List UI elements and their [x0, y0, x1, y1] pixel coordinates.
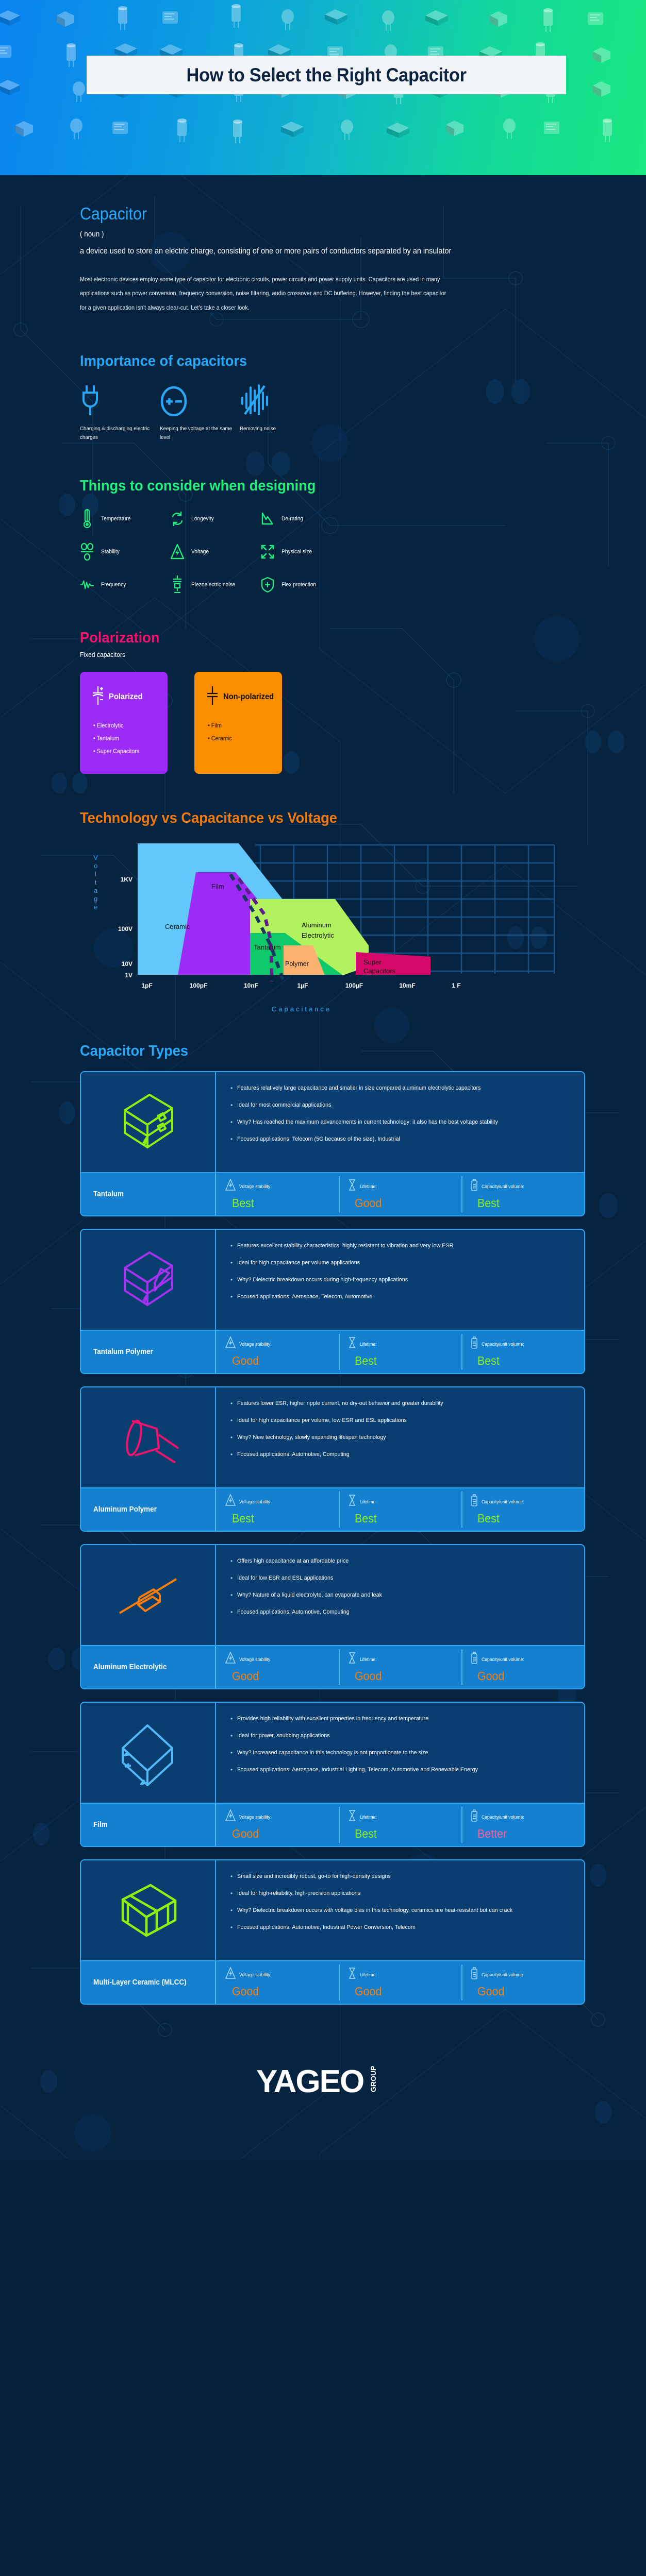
bullet-text: Why? Dielectric breakdown occurs with vo…	[237, 1906, 512, 1916]
lifetime-icon	[348, 1967, 356, 1982]
consideration-label: Physical size	[281, 548, 312, 556]
card-metric: Capacity/unit volume: Best	[461, 1173, 584, 1215]
definition-meaning: a device used to store an electric charg…	[80, 244, 454, 259]
considerations-section: Things to consider when designing Temper…	[0, 442, 646, 596]
bullet-dot: •	[230, 1556, 233, 1567]
bullet-dot: •	[230, 1450, 233, 1460]
definition-section: Capacitor ( noun ) a device used to stor…	[0, 175, 646, 315]
chart-ytick: 1KV	[121, 876, 132, 883]
chart-label-super-capacitors-2: Capacitors	[363, 967, 396, 975]
mlcc-capacitor-icon	[81, 1860, 216, 1960]
yageo-logo-subtext: GROUP	[369, 2066, 377, 2092]
shield-plus-icon	[260, 574, 275, 596]
card-bullet: • Features lower ESR, higher ripple curr…	[230, 1399, 569, 1409]
consideration-stability: Stability	[80, 541, 170, 563]
bullet-text: Small size and incredibly robust, go-to …	[237, 1872, 391, 1882]
card-bottom: Multi-Layer Ceramic (MLCC) Voltage stabi…	[81, 1960, 584, 2004]
metric-value: Good	[348, 1669, 454, 1683]
bullet-text: Ideal for high capacitance per volume, l…	[237, 1416, 407, 1426]
metric-label: Lifetime:	[360, 1184, 377, 1189]
metric-label: Capacity/unit volume:	[482, 1342, 524, 1347]
card-metric: Capacity/unit volume: Good	[461, 1961, 584, 2004]
chart-ytick: 100V	[118, 925, 132, 933]
film-capacitor-icon	[81, 1703, 216, 1803]
card-bullet: • Focused applications: Automotive, Indu…	[230, 1923, 569, 1933]
consideration-label: De-rating	[281, 515, 303, 523]
lifetime-icon	[348, 1652, 356, 1667]
metric-value: Good	[225, 1985, 331, 1998]
card-metric: Voltage stability: Good	[216, 1804, 339, 1846]
technology-capacitance-voltage-chart: Voltage	[80, 842, 585, 997]
bullet-dot: •	[230, 1889, 233, 1899]
bullet-text: Focused applications: Automotive, Comput…	[237, 1607, 350, 1618]
chart-title: Technology vs Capacitance vs Voltage	[80, 810, 554, 827]
bullet-dot: •	[230, 1590, 233, 1601]
consideration-temperature: Temperature	[80, 508, 170, 530]
card-metric: Lifetime: Best	[339, 1804, 461, 1846]
bullet-dot: •	[230, 1923, 233, 1933]
bullet-text: Features relatively large capacitance an…	[237, 1083, 481, 1094]
card-bullet: • Ideal for high-reliability, high-preci…	[230, 1889, 569, 1899]
bullet-dot: •	[230, 1714, 233, 1724]
card-metric: Lifetime: Best	[339, 1488, 461, 1531]
bullet-text: Ideal for power, snubbing applications	[237, 1731, 330, 1741]
aluminum-electrolytic-capacitor-icon	[81, 1545, 216, 1645]
yageo-logo-text: YAGEO	[256, 2064, 363, 2099]
consideration-label: Piezoelectric noise	[191, 581, 235, 589]
card-metric: Lifetime: Good	[339, 1961, 461, 2004]
card-bullet: • Ideal for most commercial applications	[230, 1100, 569, 1111]
polarization-card-name: Polarized	[109, 692, 142, 702]
card-metric: Lifetime: Best	[339, 1331, 461, 1373]
bullet-text: Focused applications: Aerospace, Industr…	[237, 1765, 478, 1775]
piezo-icon	[170, 574, 185, 596]
chart-plot: Ceramic Film Aluminum Electrolytic Tanta…	[101, 842, 565, 992]
metric-value: Best	[348, 1354, 454, 1368]
card-metric: Capacity/unit volume: Best	[461, 1331, 584, 1373]
metric-value: Good	[225, 1354, 331, 1368]
card-metric: Capacity/unit volume: Better	[461, 1804, 584, 1846]
bullet-text: Why? Dielectric breakdown occurs during …	[237, 1275, 408, 1285]
stability-icon	[225, 1809, 236, 1824]
lifetime-icon	[348, 1809, 356, 1824]
metric-value: Good	[348, 1196, 454, 1210]
chart-label-film: Film	[211, 883, 224, 890]
consideration-piezo-noise: Piezoelectric noise	[170, 574, 260, 596]
metric-value: Best	[348, 1827, 454, 1841]
bullet-text: Why? Increased capacitance in this techn…	[237, 1748, 428, 1758]
card-bullet: • Provides high reliability with excelle…	[230, 1714, 569, 1724]
card-bullet: • Features relatively large capacitance …	[230, 1083, 569, 1094]
lifetime-icon	[348, 1494, 356, 1509]
capacitor-type-cards: • Features relatively large capacitance …	[80, 1071, 584, 2005]
card-metrics: Voltage stability: Good Lifetime: Good C…	[216, 1646, 584, 1688]
consideration-label: Temperature	[101, 515, 130, 523]
card-name: Aluminum Polymer	[93, 1504, 157, 1515]
bullet-dot: •	[230, 1292, 233, 1302]
card-bullet: • Why? New technology, slowly expanding …	[230, 1433, 569, 1443]
definition-word: Capacitor	[80, 204, 544, 224]
bullet-dot: •	[230, 1607, 233, 1618]
card-name-cell: Tantalum Polymer	[81, 1331, 216, 1373]
metric-label: Capacity/unit volume:	[482, 1972, 524, 1977]
capacitor-type-card[interactable]: • Provides high reliability with excelle…	[80, 1702, 585, 1847]
polarization-list-item: • Super Capacitors	[93, 745, 162, 758]
card-bullet: • Focused applications: Aerospace, Telec…	[230, 1292, 569, 1302]
aluminum-polymer-capacitor-icon	[81, 1387, 216, 1487]
card-name-cell: Aluminum Polymer	[81, 1488, 216, 1531]
metric-value: Best	[225, 1512, 331, 1526]
card-metric: Voltage stability: Good	[216, 1646, 339, 1688]
refresh-cycle-icon	[170, 508, 185, 530]
card-name: Tantalum	[93, 1189, 124, 1200]
metric-value: Best	[348, 1512, 454, 1526]
bullet-dot: •	[230, 1906, 233, 1916]
card-bottom: Aluminum Polymer Voltage stability: Best…	[81, 1487, 584, 1531]
consideration-label: Frequency	[101, 581, 126, 589]
bullet-text: Provides high reliability with excellent…	[237, 1714, 428, 1724]
metric-label: Capacity/unit volume:	[482, 1499, 524, 1504]
chart-xtick: 100µF	[345, 982, 363, 989]
bullet-dot: •	[230, 1416, 233, 1426]
card-metrics: Voltage stability: Good Lifetime: Best C…	[216, 1804, 584, 1846]
consideration-frequency: Frequency	[80, 574, 170, 596]
lifetime-icon	[348, 1179, 356, 1194]
card-metric: Voltage stability: Best	[216, 1488, 339, 1531]
chart-label-ceramic: Ceramic	[165, 923, 190, 930]
chart-label-aluminum-electrolytic: Aluminum	[302, 921, 332, 929]
card-name: Film	[93, 1820, 108, 1831]
metric-value: Good	[225, 1827, 331, 1841]
stability-icon	[80, 541, 94, 563]
metric-label: Lifetime:	[360, 1499, 377, 1504]
card-top: • Offers high capacitance at an affordab…	[81, 1545, 584, 1645]
card-metrics: Voltage stability: Best Lifetime: Good C…	[216, 1173, 584, 1215]
importance-item-label: Charging & discharging electric charges	[80, 425, 154, 442]
consideration-derating: De-rating	[260, 508, 363, 530]
stability-icon	[225, 1179, 236, 1194]
metric-label: Voltage stability:	[239, 1815, 271, 1820]
polarization-cards: Polarized • Electrolytic • Tantalum • Su…	[80, 672, 584, 773]
capacitor-type-card[interactable]: • Offers high capacitance at an affordab…	[80, 1544, 585, 1689]
card-metric: Capacity/unit volume: Good	[461, 1646, 584, 1688]
metric-label: Lifetime:	[360, 1342, 377, 1347]
bullet-dot: •	[230, 1748, 233, 1758]
card-metrics: Voltage stability: Good Lifetime: Best C…	[216, 1331, 584, 1373]
importance-title: Importance of capacitors	[80, 353, 554, 370]
consideration-physical-size: Physical size	[260, 541, 363, 563]
card-metric: Voltage stability: Good	[216, 1331, 339, 1373]
bullet-text: Focused applications: Telecom (5G becaus…	[237, 1134, 400, 1145]
chart-label-aluminum-electrolytic-2: Electrolytic	[302, 931, 334, 939]
high-voltage-icon	[170, 541, 185, 563]
bullet-text: Ideal for most commercial applications	[237, 1100, 332, 1111]
bullet-text: Ideal for low ESR and ESL applications	[237, 1573, 333, 1584]
consideration-flex-protection: Flex protection	[260, 574, 363, 596]
card-name-cell: Tantalum	[81, 1173, 216, 1215]
consideration-label: Voltage	[191, 548, 209, 556]
chart-xtick: 10mF	[399, 982, 415, 989]
metric-label: Capacity/unit volume:	[482, 1815, 524, 1820]
metric-value: Good	[225, 1669, 331, 1683]
considerations-grid: Temperature Longevity	[80, 508, 584, 596]
bullet-text: Focused applications: Aerospace, Telecom…	[237, 1292, 372, 1302]
importance-item-noise: Removing noise	[240, 384, 320, 442]
metric-label: Capacity/unit volume:	[482, 1657, 524, 1662]
chart-xtick: 10nF	[244, 982, 258, 989]
consideration-label: Stability	[101, 548, 120, 556]
card-bullet: • Ideal for power, snubbing applications	[230, 1731, 569, 1741]
chart-section: Technology vs Capacitance vs Voltage Vol…	[0, 774, 646, 1013]
bullet-text: Features lower ESR, higher ripple curren…	[237, 1399, 443, 1409]
battery-polarity-icon	[160, 384, 240, 416]
capacity-icon	[471, 1967, 478, 1982]
card-bullet: • Why? Dielectric breakdown occurs durin…	[230, 1275, 569, 1285]
card-metric: Voltage stability: Best	[216, 1173, 339, 1215]
bullet-dot: •	[230, 1258, 233, 1268]
bullet-text: Focused applications: Automotive, Indust…	[237, 1923, 416, 1933]
bullet-dot: •	[230, 1134, 233, 1145]
considerations-title: Things to consider when designing	[80, 478, 554, 495]
metric-label: Voltage stability:	[239, 1184, 271, 1189]
capacitor-type-card[interactable]: • Features excellent stability character…	[80, 1229, 585, 1374]
capacity-icon	[471, 1336, 478, 1351]
polarization-list-item: • Film	[208, 720, 277, 733]
card-metrics: Voltage stability: Good Lifetime: Good C…	[216, 1961, 584, 2004]
metric-value: Good	[471, 1985, 576, 1998]
importance-section: Importance of capacitors Charging & disc…	[0, 315, 646, 442]
bullet-text: Features excellent stability characteris…	[237, 1241, 453, 1251]
importance-item-voltage: Keeping the voltage at the same level	[160, 384, 240, 442]
card-top: • Small size and incredibly robust, go-t…	[81, 1860, 584, 1960]
card-bullet-list: • Features relatively large capacitance …	[216, 1072, 584, 1172]
card-top: • Features excellent stability character…	[81, 1230, 584, 1330]
metric-label: Voltage stability:	[239, 1657, 271, 1662]
derating-chart-icon	[260, 508, 275, 530]
metric-value: Best	[471, 1354, 576, 1368]
metric-label: Lifetime:	[360, 1657, 377, 1662]
chart-xtick: 1µF	[297, 982, 308, 989]
expand-arrows-icon	[260, 541, 275, 563]
bullet-dot: •	[230, 1573, 233, 1584]
chart-x-axis-label: Capacitance	[80, 1005, 523, 1013]
card-bullet: • Ideal for high capacitance per volume,…	[230, 1416, 569, 1426]
bullet-dot: •	[230, 1100, 233, 1111]
bullet-dot: •	[230, 1765, 233, 1775]
chart-label-polymer: Polymer	[285, 960, 309, 968]
plug-icon	[80, 384, 160, 416]
chart-label-tantalum: Tantalum	[254, 943, 281, 951]
consideration-label: Flex protection	[281, 581, 316, 589]
importance-item-label: Removing noise	[240, 425, 314, 433]
tantalum-capacitor-icon	[81, 1072, 216, 1172]
chart-label-super-capacitors: Super	[363, 958, 382, 966]
chart-xtick: 1pF	[141, 982, 152, 989]
polarization-list-item: • Tantalum	[93, 733, 162, 745]
card-bullet-list: • Features lower ESR, higher ripple curr…	[216, 1387, 584, 1487]
stability-icon	[225, 1967, 236, 1982]
metric-label: Voltage stability:	[239, 1499, 271, 1504]
card-bottom: Film Voltage stability: Good Lifetime: B…	[81, 1803, 584, 1846]
importance-item-label: Keeping the voltage at the same level	[160, 425, 234, 442]
card-bullet: • Focused applications: Automotive, Comp…	[230, 1607, 569, 1618]
importance-item-charging: Charging & discharging electric charges	[80, 384, 160, 442]
metric-value: Best	[471, 1512, 576, 1526]
infographic-body: Capacitor ( noun ) a device used to stor…	[0, 175, 646, 2159]
footer: YAGEO GROUP	[0, 2005, 646, 2159]
noise-bars-icon	[240, 384, 320, 416]
chart-ytick: 10V	[122, 960, 132, 968]
card-top: • Features lower ESR, higher ripple curr…	[81, 1387, 584, 1487]
card-bottom: Aluminum Electrolytic Voltage stability:…	[81, 1645, 584, 1688]
lifetime-icon	[348, 1336, 356, 1351]
capacitor-type-card[interactable]: • Small size and incredibly robust, go-t…	[80, 1859, 585, 2005]
bullet-dot: •	[230, 1872, 233, 1882]
bullet-dot: •	[230, 1117, 233, 1128]
hero-banner: How to Select the Right Capacitor	[0, 0, 646, 175]
polarization-list-item: • Ceramic	[208, 733, 277, 745]
metric-value: Best	[225, 1196, 331, 1210]
consideration-voltage: Voltage	[170, 541, 260, 563]
consideration-longevity: Longevity	[170, 508, 260, 530]
card-bullet: • Why? Nature of a liquid electrolyte, c…	[230, 1590, 569, 1601]
tantalum-polymer-capacitor-icon	[81, 1230, 216, 1330]
metric-label: Lifetime:	[360, 1972, 377, 1977]
bullet-dot: •	[230, 1731, 233, 1741]
bullet-text: Why? Has reached the maximum advancement…	[237, 1117, 498, 1128]
card-bullet: • Why? Dielectric breakdown occurs with …	[230, 1906, 569, 1916]
card-bullet-list: • Features excellent stability character…	[216, 1230, 584, 1330]
stability-icon	[225, 1652, 236, 1667]
card-name: Aluminum Electrolytic	[93, 1662, 167, 1673]
card-bullet-list: • Offers high capacitance at an affordab…	[216, 1545, 584, 1645]
polarization-card-non-polarized[interactable]: Non-polarized • Film • Ceramic	[194, 672, 282, 773]
card-bullet: • Focused applications: Aerospace, Indus…	[230, 1765, 569, 1775]
metric-label: Lifetime:	[360, 1815, 377, 1820]
bullet-text: Focused applications: Automotive, Comput…	[237, 1450, 350, 1460]
card-name: Tantalum Polymer	[93, 1347, 153, 1358]
chart-y-axis-label: Voltage	[90, 854, 101, 911]
hero-title-bar: How to Select the Right Capacitor	[87, 56, 566, 94]
capacity-icon	[471, 1179, 478, 1194]
card-metric: Lifetime: Good	[339, 1646, 461, 1688]
card-bullet: • Offers high capacitance at an affordab…	[230, 1556, 569, 1567]
card-metric: Lifetime: Good	[339, 1173, 461, 1215]
card-metric: Capacity/unit volume: Best	[461, 1488, 584, 1531]
card-bullet: • Focused applications: Automotive, Comp…	[230, 1450, 569, 1460]
card-bullet: • Why? Has reached the maximum advanceme…	[230, 1117, 569, 1128]
card-name-cell: Aluminum Electrolytic	[81, 1646, 216, 1688]
metric-label: Voltage stability:	[239, 1972, 271, 1977]
bullet-dot: •	[230, 1275, 233, 1285]
metric-value: Good	[348, 1985, 454, 1998]
bullet-text: Ideal for high-reliability, high-precisi…	[237, 1889, 360, 1899]
definition-paragraph: Most electronic devices employ some type…	[80, 273, 448, 315]
card-metric: Voltage stability: Good	[216, 1961, 339, 2004]
card-bullet: • Features excellent stability character…	[230, 1241, 569, 1251]
capacitor-types-section: Capacitor Types • Features relatively la…	[0, 1013, 646, 2005]
metric-label: Capacity/unit volume:	[482, 1184, 524, 1189]
definition-part-of-speech: ( noun )	[80, 230, 534, 239]
card-bottom: Tantalum Polymer Voltage stability: Good…	[81, 1330, 584, 1373]
card-name-cell: Multi-Layer Ceramic (MLCC)	[81, 1961, 216, 2004]
stability-icon	[225, 1336, 236, 1351]
polarization-list-item: • Electrolytic	[93, 720, 162, 733]
bullet-dot: •	[230, 1241, 233, 1251]
bullet-dot: •	[230, 1399, 233, 1409]
bullet-text: Ideal for high capacitance per volume ap…	[237, 1258, 360, 1268]
polarization-section: Polarization Fixed capacitors	[0, 596, 646, 774]
chart-xtick: 1 F	[452, 982, 460, 989]
capacitor-type-card[interactable]: • Features relatively large capacitance …	[80, 1071, 585, 1216]
card-bullet: • Why? Increased capacitance in this tec…	[230, 1748, 569, 1758]
card-name-cell: Film	[81, 1804, 216, 1846]
importance-list: Charging & discharging electric charges …	[80, 384, 584, 442]
polarization-subtitle: Fixed capacitors	[80, 651, 549, 658]
bullet-text: Why? New technology, slowly expanding li…	[237, 1433, 386, 1443]
polarized-capacitor-symbol-icon	[91, 685, 105, 708]
capacity-icon	[471, 1652, 478, 1667]
yageo-logo: YAGEO GROUP	[256, 2062, 390, 2102]
card-bullet: • Ideal for low ESR and ESL applications	[230, 1573, 569, 1584]
card-metrics: Voltage stability: Best Lifetime: Best C…	[216, 1488, 584, 1531]
card-bottom: Tantalum Voltage stability: Best Lifetim…	[81, 1172, 584, 1215]
metric-value: Better	[471, 1827, 576, 1841]
card-top: • Provides high reliability with excelle…	[81, 1703, 584, 1803]
capacity-icon	[471, 1494, 478, 1509]
polarization-card-polarized[interactable]: Polarized • Electrolytic • Tantalum • Su…	[80, 672, 168, 773]
card-top: • Features relatively large capacitance …	[81, 1072, 584, 1172]
bullet-dot: •	[230, 1083, 233, 1094]
metric-label: Voltage stability:	[239, 1342, 271, 1347]
capacitor-types-title: Capacitor Types	[80, 1043, 554, 1060]
card-bullet-list: • Small size and incredibly robust, go-t…	[216, 1860, 584, 1960]
nonpolarized-capacitor-symbol-icon	[206, 685, 219, 708]
polarization-card-name: Non-polarized	[223, 692, 274, 702]
card-bullet: • Focused applications: Telecom (5G beca…	[230, 1134, 569, 1145]
page-title: How to Select the Right Capacitor	[186, 64, 466, 86]
waveform-icon	[80, 574, 94, 596]
capacity-icon	[471, 1809, 478, 1824]
capacitor-type-card[interactable]: • Features lower ESR, higher ripple curr…	[80, 1386, 585, 1532]
thermometer-icon	[80, 508, 94, 530]
metric-value: Good	[471, 1669, 576, 1683]
stability-icon	[225, 1494, 236, 1509]
card-bullet: • Small size and incredibly robust, go-t…	[230, 1872, 569, 1882]
card-bullet-list: • Provides high reliability with excelle…	[216, 1703, 584, 1803]
chart-ytick: 1V	[125, 972, 132, 979]
bullet-text: Offers high capacitance at an affordable…	[237, 1556, 349, 1567]
card-name: Multi-Layer Ceramic (MLCC)	[93, 1977, 187, 1988]
card-bullet: • Ideal for high capacitance per volume …	[230, 1258, 569, 1268]
metric-value: Best	[471, 1196, 576, 1210]
chart-xtick: 100pF	[190, 982, 208, 989]
bullet-text: Why? Nature of a liquid electrolyte, can…	[237, 1590, 382, 1601]
consideration-label: Longevity	[191, 515, 214, 523]
polarization-title: Polarization	[80, 630, 554, 647]
bullet-dot: •	[230, 1433, 233, 1443]
